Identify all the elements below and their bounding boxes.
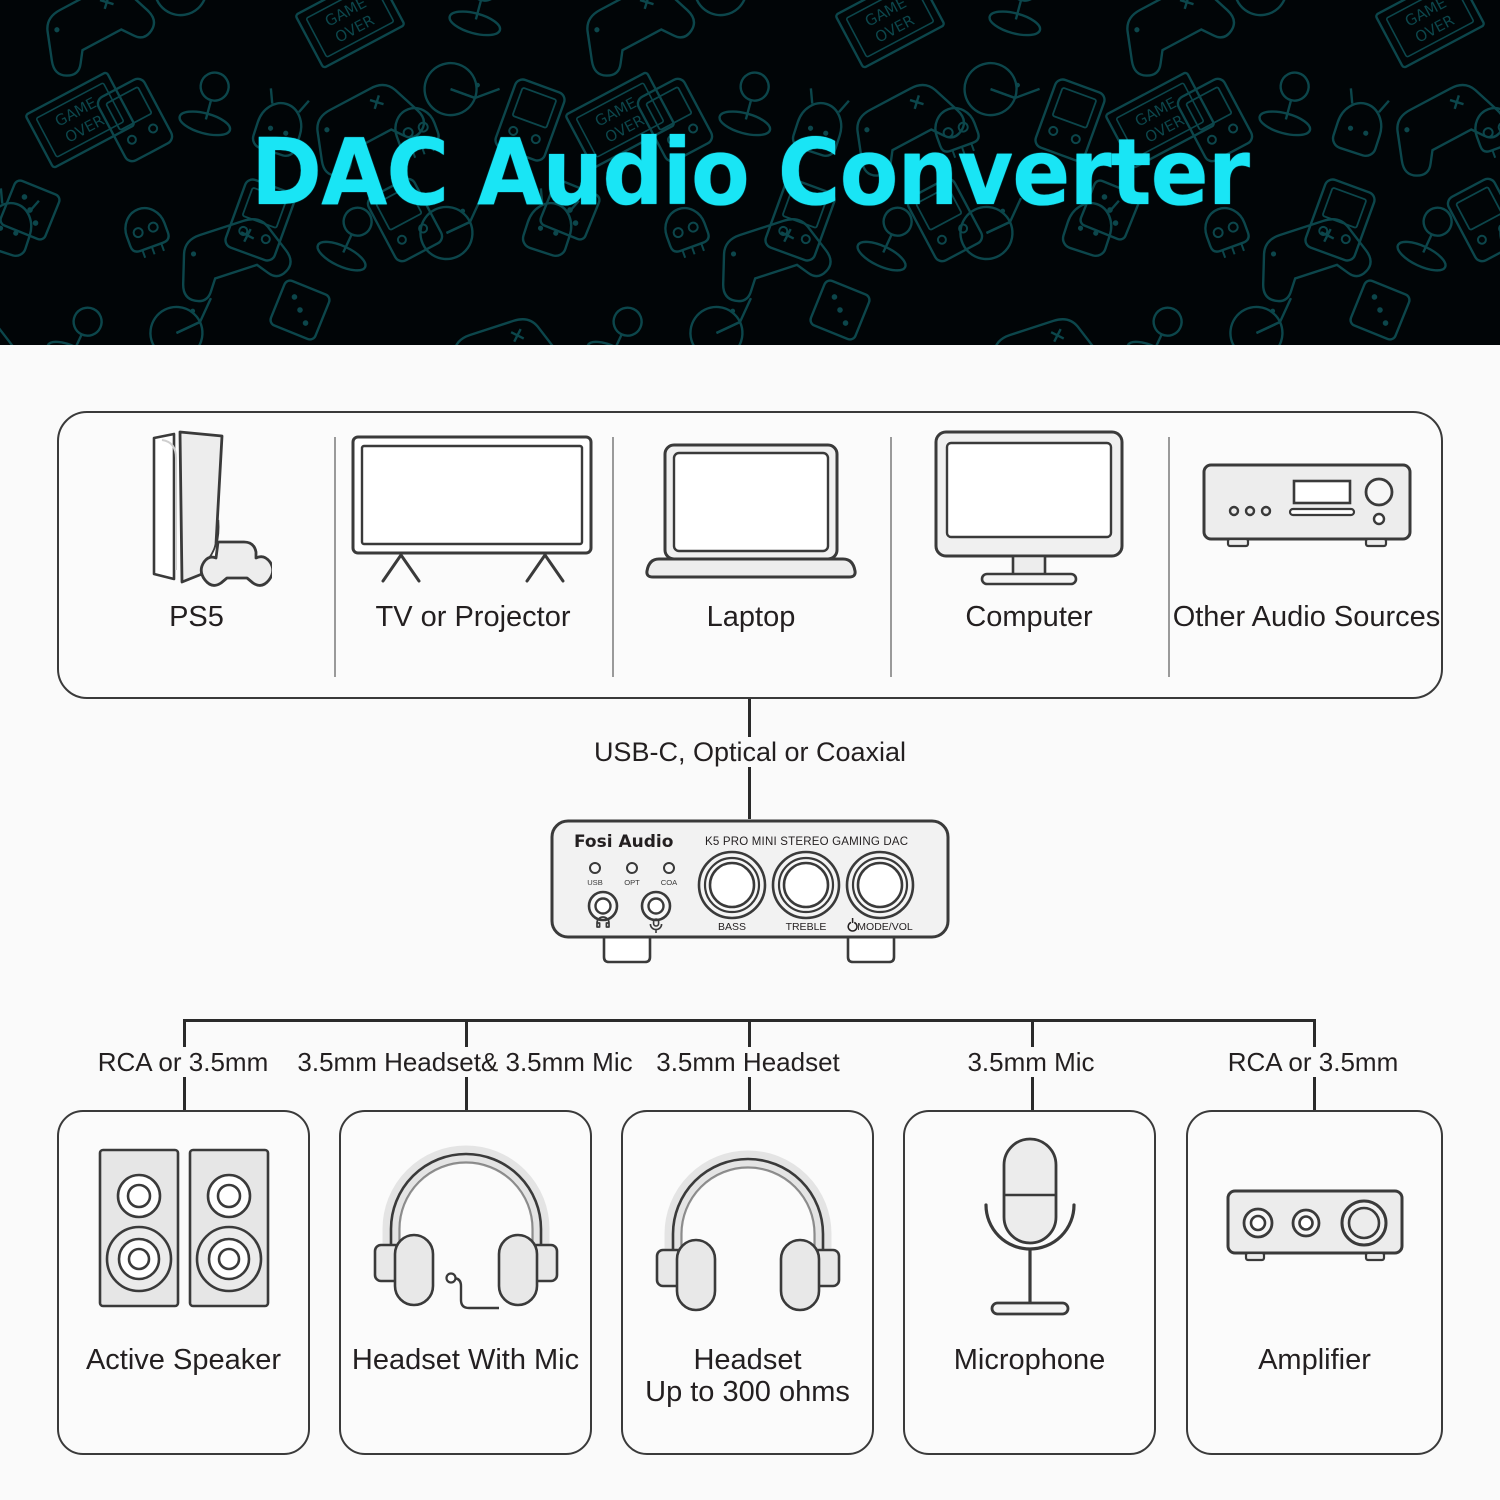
headset-with-mic-icon (341, 1112, 590, 1344)
headphones-icon (623, 1112, 872, 1344)
studio-microphone-icon (905, 1112, 1154, 1344)
svg-text:USB: USB (587, 878, 603, 887)
output-card-headset[interactable]: Headset Up to 300 ohms (621, 1110, 874, 1455)
branch-text: 3.5mm Mic (961, 1047, 1100, 1077)
header-banner: GAME OVER (0, 0, 1500, 345)
svg-text:MODE/VOL: MODE/VOL (857, 921, 913, 933)
output-card-microphone[interactable]: Microphone (903, 1110, 1156, 1455)
input-connection-text: USB-C, Optical or Coaxial (580, 737, 920, 767)
av-receiver-icon (1168, 413, 1445, 599)
output-branch-label-mic: 3.5mm Mic (961, 1047, 1100, 1078)
source-label: PS5 (169, 601, 224, 634)
ps5-console-icon (59, 413, 334, 599)
branch-text: 3.5mm Headset (650, 1047, 846, 1077)
output-card-headset-with-mic[interactable]: Headset With Mic (339, 1110, 592, 1455)
output-branch-label-amplifier: RCA or 3.5mm (1222, 1047, 1405, 1078)
bookshelf-speakers-icon (59, 1112, 308, 1344)
branch-text: RCA or 3.5mm (92, 1047, 275, 1077)
source-item-computer[interactable]: Computer (890, 413, 1168, 697)
svg-text:COA: COA (661, 878, 678, 887)
output-branch-label-headset-mic: 3.5mm Headset& 3.5mm Mic (291, 1047, 638, 1078)
source-item-laptop[interactable]: Laptop (612, 413, 890, 697)
audio-sources-panel: PS5 TV or Projector (57, 411, 1443, 699)
output-label: Amplifier (1258, 1344, 1371, 1376)
branch-text: 3.5mm Headset& 3.5mm Mic (291, 1047, 638, 1077)
output-label: Active Speaker (86, 1344, 281, 1376)
input-connection-label: USB-C, Optical or Coaxial (0, 737, 1500, 768)
dac-device: Fosi Audio K5 PRO MINI STEREO GAMING DAC… (548, 817, 952, 982)
output-label: Headset Up to 300 ohms (645, 1344, 850, 1409)
source-item-other-audio-sources[interactable]: Other Audio Sources (1168, 413, 1445, 697)
svg-text:OPT: OPT (624, 878, 640, 887)
source-item-tv[interactable]: TV or Projector (334, 413, 612, 697)
amplifier-icon (1188, 1112, 1441, 1344)
page-title: DAC Audio Converter (53, 0, 1448, 345)
output-card-amplifier[interactable]: Amplifier (1186, 1110, 1443, 1455)
source-label: Other Audio Sources (1173, 601, 1441, 634)
branch-text: RCA or 3.5mm (1222, 1047, 1405, 1077)
svg-text:BASS: BASS (718, 921, 746, 933)
diagram-body: PS5 TV or Projector (0, 345, 1500, 1500)
output-branch-label-speaker: RCA or 3.5mm (92, 1047, 275, 1078)
desktop-monitor-icon (890, 413, 1168, 599)
television-icon (334, 413, 612, 599)
source-label: TV or Projector (376, 601, 571, 634)
svg-text:K5 PRO MINI STEREO GAMING DAC: K5 PRO MINI STEREO GAMING DAC (705, 836, 908, 848)
output-branch-label-headset: 3.5mm Headset (650, 1047, 846, 1078)
svg-text:Fosi Audio: Fosi Audio (574, 832, 673, 852)
output-label: Headset With Mic (352, 1344, 579, 1376)
svg-text:TREBLE: TREBLE (786, 921, 827, 933)
output-card-active-speaker[interactable]: Active Speaker (57, 1110, 310, 1455)
output-label: Microphone (954, 1344, 1106, 1376)
source-label: Laptop (707, 601, 796, 634)
source-label: Computer (965, 601, 1092, 634)
laptop-icon (612, 413, 890, 599)
source-item-ps5[interactable]: PS5 (59, 413, 334, 697)
